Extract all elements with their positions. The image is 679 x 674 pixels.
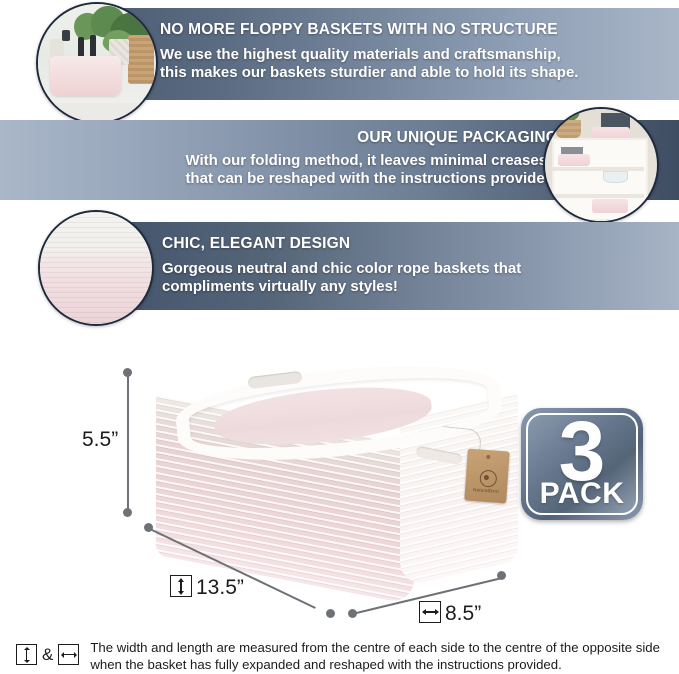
pink-basket-shape [50, 56, 121, 96]
dim-label-length: 13.5” [170, 575, 244, 600]
arrow-horizontal-icon [419, 601, 441, 623]
banner-body: We use the highest quality materials and… [160, 46, 578, 83]
photo-illustration [38, 4, 156, 122]
dim-width-value: 8.5” [445, 602, 481, 625]
pack-count-badge: 3 PACK [521, 408, 643, 520]
arrow-vertical-icon [16, 644, 37, 665]
dim-label-width: 8.5” [419, 601, 481, 626]
pink-basket-shape [558, 154, 589, 166]
shelf-divider [552, 167, 644, 171]
pink-basket-shape [592, 199, 628, 214]
tag-hole [486, 455, 490, 459]
footnote-icons: & [16, 644, 79, 665]
feature-banner-no-structure: NO MORE FLOPPY BASKETS WITH NO STRUCTURE… [84, 8, 679, 100]
badge-inner: 3 PACK [526, 413, 638, 515]
arrow-vertical-icon [170, 575, 192, 597]
shelf-divider [552, 194, 644, 198]
banner-body: With our folding method, it leaves minim… [185, 152, 558, 189]
badge-unit: PACK [528, 479, 636, 509]
footnote-text: The width and length are measured from t… [90, 640, 660, 674]
measurement-footnote: & The width and length are measured from… [16, 640, 666, 674]
bottle-shape [90, 35, 96, 59]
plant-pot-shape [556, 120, 581, 138]
banner-heading: OUR UNIQUE PACKAGING [357, 129, 558, 147]
dim-endpoint-dot [497, 571, 506, 580]
dim-label-height: 5.5” [82, 428, 118, 452]
banner-heading: CHIC, ELEGANT DESIGN [162, 235, 350, 253]
photo-illustration [545, 109, 657, 221]
feature-photo-rope-texture [38, 210, 154, 326]
dim-endpoint-dot [123, 508, 132, 517]
footnote-separator: & [42, 645, 53, 665]
feature-photo-bathroom-shelf [36, 2, 158, 124]
rattan-basket-shape [128, 35, 154, 85]
infographic-canvas: NO MORE FLOPPY BASKETS WITH NO STRUCTURE… [0, 0, 679, 673]
banner-heading: NO MORE FLOPPY BASKETS WITH NO STRUCTURE [160, 21, 558, 39]
bottle-shape [62, 30, 70, 41]
photo-illustration [40, 212, 152, 324]
dim-length-value: 13.5” [196, 576, 244, 599]
brand-logo-icon [479, 469, 497, 487]
tag-brand-name: NaturalDesi [465, 487, 507, 495]
bowl-shape [603, 171, 627, 183]
arrow-horizontal-icon [58, 644, 79, 665]
feature-photo-shelving-unit [543, 107, 659, 223]
dim-line-height [127, 374, 129, 512]
dim-endpoint-dot [326, 609, 335, 618]
feature-banner-chic-design: CHIC, ELEGANT DESIGN Gorgeous neutral an… [130, 222, 679, 310]
banner-body: Gorgeous neutral and chic color rope bas… [162, 260, 521, 297]
hang-tag: NaturalDesi [464, 449, 510, 504]
